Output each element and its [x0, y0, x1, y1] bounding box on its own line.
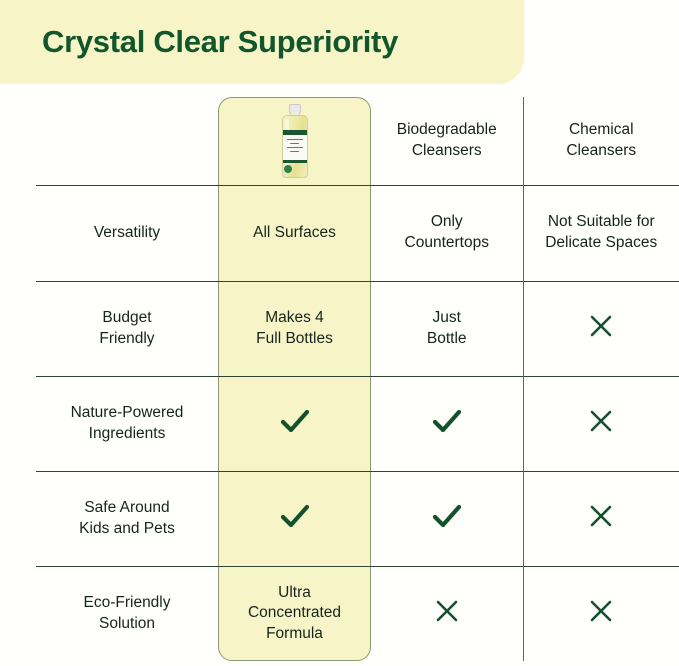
cross-icon — [586, 406, 616, 436]
table-row: Budget Friendly Makes 4 Full Bottles Jus… — [36, 281, 679, 376]
column-header-line: Cleansers — [371, 141, 523, 161]
column-header-line: Cleansers — [524, 141, 679, 161]
cell-text-line: Concentrated — [218, 603, 371, 624]
cell-biodegradable — [371, 566, 523, 661]
cell-ours — [218, 471, 371, 566]
cell-biodegradable — [371, 376, 523, 471]
cross-icon — [586, 501, 616, 531]
table-row: Safe Around Kids and Pets — [36, 471, 679, 566]
cell-text-line: Delicate Spaces — [524, 233, 679, 254]
table-row: Eco-Friendly Solution Ultra Concentrated… — [36, 566, 679, 661]
feature-label-line: Kids and Pets — [36, 519, 218, 539]
check-icon — [277, 405, 313, 437]
cross-icon — [586, 311, 616, 341]
check-icon — [277, 500, 313, 532]
cross-icon — [586, 596, 616, 626]
check-icon — [429, 405, 465, 437]
cell-ours: Ultra Concentrated Formula — [218, 566, 371, 661]
cell-text-line: Just — [371, 308, 523, 329]
table-row: Nature-Powered Ingredients — [36, 376, 679, 471]
comparison-table: Biodegradable Cleansers Chemical Cleanse… — [36, 97, 679, 661]
bottle-label — [283, 130, 307, 163]
page-title: Crystal Clear Superiority — [42, 24, 398, 60]
cell-chemical: Not Suitable for Delicate Spaces — [523, 185, 679, 281]
header-cell-product — [218, 97, 371, 185]
cell-text-line: Bottle — [371, 329, 523, 350]
cell-text-line: Only — [371, 212, 523, 233]
feature-label-line: Friendly — [36, 329, 218, 349]
cell-text-line: Makes 4 — [218, 308, 371, 329]
feature-label: Budget Friendly — [36, 281, 218, 376]
cell-text-line: All Surfaces — [218, 223, 371, 244]
cell-text-line: Full Bottles — [218, 329, 371, 350]
cell-text-line: Ultra — [218, 583, 371, 604]
bottle-seal-icon — [284, 165, 292, 173]
cell-chemical — [523, 376, 679, 471]
cell-text-line: Formula — [218, 624, 371, 645]
product-bottle-image — [218, 97, 371, 185]
column-header-line: Chemical — [524, 120, 679, 140]
feature-label-line: Versatility — [36, 223, 218, 243]
feature-label: Versatility — [36, 185, 218, 281]
feature-label-line: Ingredients — [36, 424, 218, 444]
cell-text-line: Not Suitable for — [524, 212, 679, 233]
comparison-infographic: Crystal Clear Superiority — [0, 0, 679, 666]
feature-label-line: Solution — [36, 614, 218, 634]
cell-ours: All Surfaces — [218, 185, 371, 281]
header-cell-biodegradable: Biodegradable Cleansers — [371, 97, 523, 185]
table-row: Versatility All Surfaces Only Countertop… — [36, 185, 679, 281]
feature-label-line: Eco-Friendly — [36, 593, 218, 613]
cell-chemical — [523, 566, 679, 661]
feature-label: Safe Around Kids and Pets — [36, 471, 218, 566]
cell-biodegradable: Just Bottle — [371, 281, 523, 376]
table-header-row: Biodegradable Cleansers Chemical Cleanse… — [36, 97, 679, 185]
feature-label-line: Safe Around — [36, 498, 218, 518]
cell-ours — [218, 376, 371, 471]
header-cell-feature — [36, 97, 218, 185]
title-banner: Crystal Clear Superiority — [0, 0, 524, 84]
feature-label: Nature-Powered Ingredients — [36, 376, 218, 471]
bottle-label-text — [287, 139, 303, 155]
cell-text-line: Countertops — [371, 233, 523, 254]
cell-biodegradable — [371, 471, 523, 566]
cell-biodegradable: Only Countertops — [371, 185, 523, 281]
cell-chemical — [523, 471, 679, 566]
feature-label-line: Nature-Powered — [36, 403, 218, 423]
cell-ours: Makes 4 Full Bottles — [218, 281, 371, 376]
feature-label: Eco-Friendly Solution — [36, 566, 218, 661]
column-header-line: Biodegradable — [371, 120, 523, 140]
cross-icon — [432, 596, 462, 626]
header-cell-chemical: Chemical Cleansers — [523, 97, 679, 185]
cell-chemical — [523, 281, 679, 376]
feature-label-line: Budget — [36, 308, 218, 328]
check-icon — [429, 500, 465, 532]
